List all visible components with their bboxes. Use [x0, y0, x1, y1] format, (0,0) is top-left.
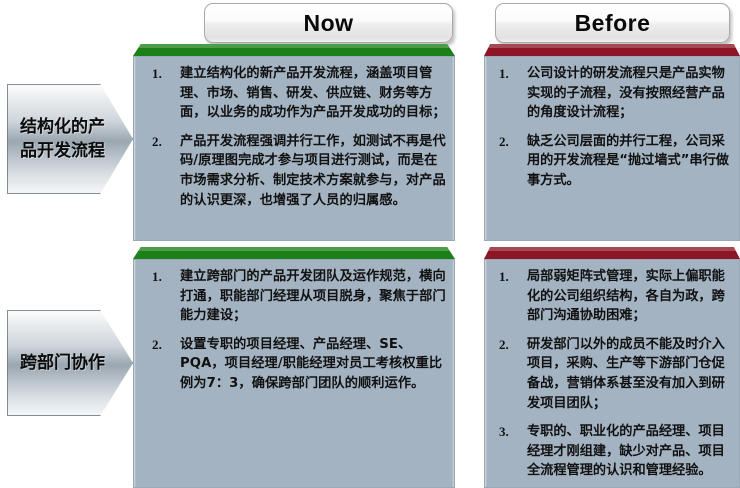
row-1-arrow-label-text: 结构化的产品开发流程 — [7, 115, 133, 163]
row-2-now-panel: 建立跨部门的产品开发团队及运作规范，横向打通，职能部门经理从项目脱身，聚焦于部门… — [133, 259, 455, 488]
row-2-before-accent-bar — [484, 247, 740, 259]
column-header-now[interactable]: Now — [204, 3, 453, 43]
list-item: 产品开发流程强调并行工作，如测试不再是代码/原理图完成才参与项目进行测试，而是在… — [138, 132, 448, 210]
panel-left-highlight — [134, 260, 136, 487]
accent-bar-sheen — [484, 44, 740, 48]
list-item: 建立跨部门的产品开发团队及运作规范，横向打通，职能部门经理从项目脱身，聚焦于部门… — [138, 267, 448, 326]
row-2-arrow-label-text: 跨部门协作 — [7, 351, 131, 375]
row-2-before-list: 局部弱矩阵式管理，实际上偏职能化的公司组织结构，各自为政，跨部门沟通协助困难； … — [485, 260, 739, 485]
row-1-now-accent-bar — [133, 44, 455, 56]
accent-bar-sheen — [133, 247, 455, 251]
list-item: 研发部门以外的成员不能及时介入项目，采购、生产等下游部门仓促备战，营销体系甚至没… — [487, 335, 733, 413]
row-1-arrow-label: 结构化的产品开发流程 — [7, 84, 133, 194]
row-1-before-list: 公司设计的研发流程只是产品实物实现的子流程，没有按照经营产品的角度设计流程； 缺… — [485, 57, 739, 195]
panel-left-highlight — [134, 57, 136, 240]
accent-bar-sheen — [484, 247, 740, 251]
panel-right-highlight — [452, 57, 454, 240]
row-2-arrow-label: 跨部门协作 — [7, 310, 133, 416]
column-header-before[interactable]: Before — [495, 3, 730, 43]
column-header-before-label: Before — [575, 10, 651, 37]
column-header-now-label: Now — [303, 10, 353, 37]
row-2-now-list: 建立跨部门的产品开发团队及运作规范，横向打通，职能部门经理从项目脱身，聚焦于部门… — [134, 260, 454, 398]
row-1-before-accent-bar — [484, 44, 740, 56]
row-2-now-accent-bar — [133, 247, 455, 259]
accent-bar-sheen — [133, 44, 455, 48]
list-item: 缺乏公司层面的并行工程，公司采用的开发流程是“抛过墙式”串行做事方式。 — [487, 132, 733, 191]
row-1-before-panel: 公司设计的研发流程只是产品实物实现的子流程，没有按照经营产品的角度设计流程； 缺… — [484, 56, 740, 241]
list-item: 设置专职的项目经理、产品经理、SE、PQA，项目经理/职能经理对员工考核权重比例… — [138, 335, 448, 394]
list-item: 公司设计的研发流程只是产品实物实现的子流程，没有按照经营产品的角度设计流程； — [487, 64, 733, 123]
row-1-now-list: 建立结构化的新产品开发流程，涵盖项目管理、市场、销售、研发、供应链、财务等方面，… — [134, 57, 454, 214]
list-item: 建立结构化的新产品开发流程，涵盖项目管理、市场、销售、研发、供应链、财务等方面，… — [138, 64, 448, 123]
row-2-before-panel: 局部弱矩阵式管理，实际上偏职能化的公司组织结构，各自为政，跨部门沟通协助困难； … — [484, 259, 740, 488]
list-item: 专职的、职业化的产品经理、项目经理才刚组建，缺少对产品、项目全流程管理的认识和管… — [487, 422, 733, 481]
panel-right-highlight — [452, 260, 454, 487]
row-1-now-panel: 建立结构化的新产品开发流程，涵盖项目管理、市场、销售、研发、供应链、财务等方面，… — [133, 56, 455, 241]
list-item: 局部弱矩阵式管理，实际上偏职能化的公司组织结构，各自为政，跨部门沟通协助困难； — [487, 267, 733, 326]
